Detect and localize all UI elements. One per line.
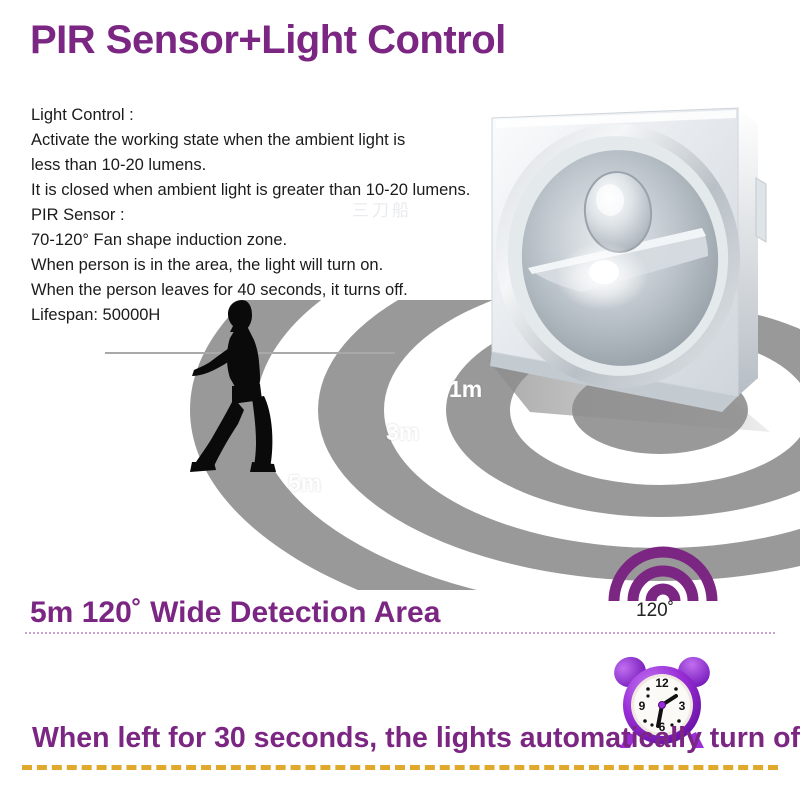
arc-label-3m: 3m: [386, 419, 419, 446]
spec-line-lifespan: Lifespan: 50000H: [31, 303, 511, 328]
spec-line-turn-on: When person is in the area, the light wi…: [31, 253, 511, 278]
spec-line-fan-zone: 70-120° Fan shape induction zone.: [31, 228, 511, 253]
clock-numeral-12: 12: [655, 676, 669, 690]
page-title: PIR Sensor+Light Control: [30, 18, 506, 63]
specification-text-block: Light Control : Activate the working sta…: [31, 103, 511, 328]
headline-detection-area: 5m 120˚ Wide Detection Area: [30, 596, 440, 630]
signal-wave-icon: [608, 545, 718, 603]
spec-line-pir-heading: PIR Sensor :: [31, 203, 511, 228]
spec-line-light-control-heading: Light Control :: [31, 103, 511, 128]
clock-center-pin: [659, 702, 666, 709]
wave-angle-label: 120˚: [636, 600, 674, 622]
headline-auto-turn-off: When left for 30 seconds, the lights aut…: [32, 722, 800, 755]
spec-line-closed-when: It is closed when ambient light is great…: [31, 178, 511, 203]
arc-label-5m: 5m: [288, 470, 321, 497]
spec-line-turn-off: When the person leaves for 40 seconds, i…: [31, 278, 511, 303]
clock-numeral-3: 3: [679, 699, 686, 713]
clock-numeral-9: 9: [639, 699, 646, 713]
pir-sensor-svg: [470, 60, 800, 460]
spec-line-less-than: less than 10-20 lumens.: [31, 153, 511, 178]
device-side-edge: [738, 108, 758, 396]
divider-dashed-gold: [22, 765, 778, 770]
spec-line-activate: Activate the working state when the ambi…: [31, 128, 511, 153]
led-hotspot: [589, 260, 619, 284]
device-side-tab: [756, 178, 766, 242]
pir-sensor-device-image: [470, 60, 800, 460]
signal-wave-svg: [608, 545, 718, 603]
infographic-page: PIR Sensor+Light Control 三刀船 Light Contr…: [0, 0, 800, 800]
divider-dotted: [25, 632, 775, 634]
